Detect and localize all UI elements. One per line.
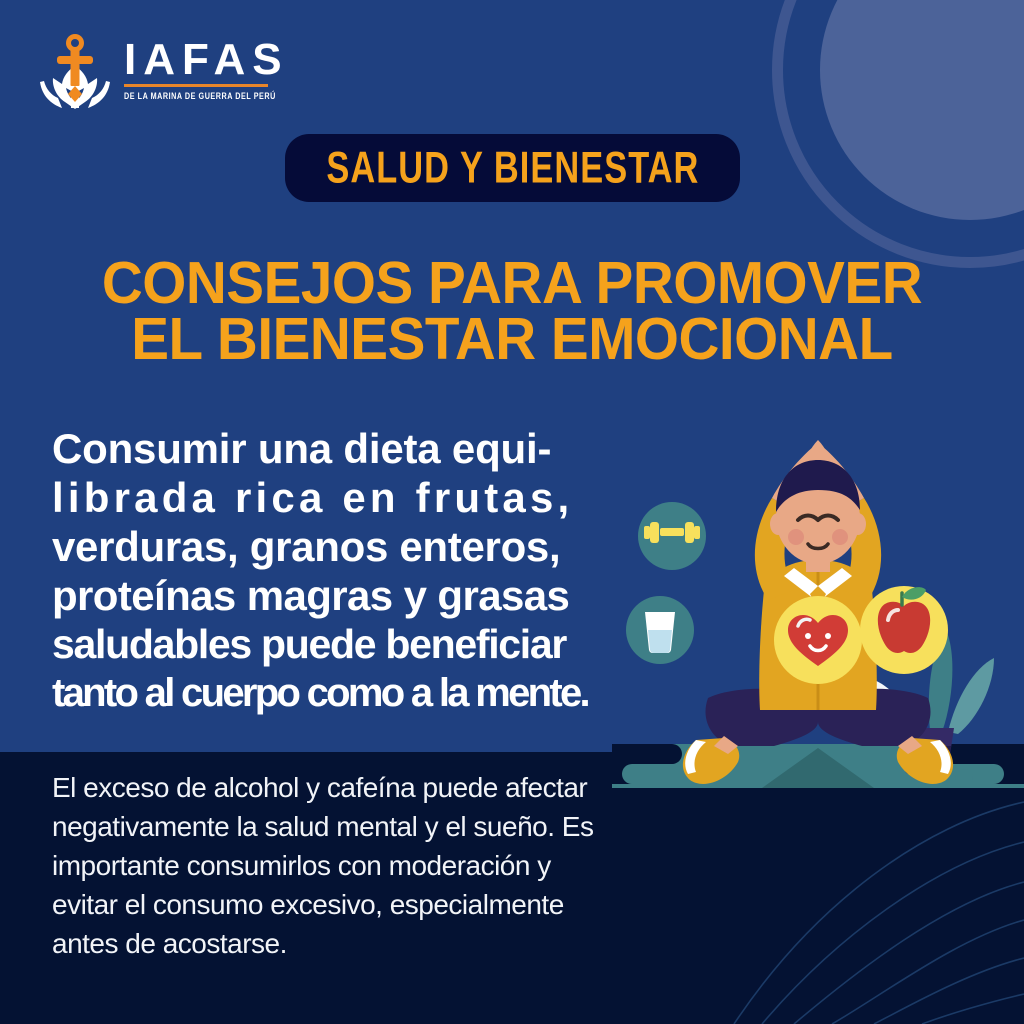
floor-mat bbox=[612, 744, 1024, 788]
wellness-illustration bbox=[612, 440, 1024, 840]
category-badge: SALUD Y BIENESTAR bbox=[285, 134, 740, 202]
note-paragraph: El exceso de alcohol y cafeína puede afe… bbox=[52, 768, 597, 963]
note-line: antes de acostarse. bbox=[52, 924, 597, 963]
title-line-1: CONSEJOS PARA PROMOVER bbox=[20, 258, 1003, 308]
heart-icon bbox=[774, 596, 862, 684]
water-glass-icon bbox=[626, 596, 694, 664]
brand-wordmark: IAFAS DE LA MARINA DE GUERRA DEL PERÚ bbox=[124, 38, 289, 99]
lead-line: librada rica en frutas, bbox=[52, 473, 597, 522]
category-badge-label: SALUD Y BIENESTAR bbox=[326, 143, 699, 193]
apple-icon bbox=[860, 586, 948, 674]
lead-line: saludables puede beneficiar bbox=[52, 620, 597, 669]
note-line: El exceso de alcohol y cafeína puede afe… bbox=[52, 768, 597, 807]
brand-rule bbox=[124, 84, 268, 87]
brand-subtitle: DE LA MARINA DE GUERRA DEL PERÚ bbox=[124, 90, 289, 101]
lead-line: verduras, granos enteros, bbox=[52, 522, 597, 571]
note-line: negativamente la salud mental y el sueño… bbox=[52, 807, 597, 846]
lead-line: tanto al cuerpo como a la mente. bbox=[52, 669, 597, 718]
infographic-poster: IAFAS DE LA MARINA DE GUERRA DEL PERÚ SA… bbox=[0, 0, 1024, 1024]
anchor-icon bbox=[38, 30, 112, 110]
page-title: CONSEJOS PARA PROMOVER EL BIENESTAR EMOC… bbox=[0, 258, 1024, 364]
brand-logo: IAFAS DE LA MARINA DE GUERRA DEL PERÚ bbox=[38, 30, 268, 110]
lead-line: Consumir una dieta equi- bbox=[52, 424, 597, 473]
brand-name: IAFAS bbox=[124, 38, 289, 82]
note-line: importante consumirlos con moderación y bbox=[52, 846, 597, 885]
lead-paragraph: Consumir una dieta equi- librada rica en… bbox=[52, 424, 597, 718]
title-line-2: EL BIENESTAR EMOCIONAL bbox=[20, 314, 1003, 364]
note-line: evitar el consumo excesivo, especialment… bbox=[52, 885, 597, 924]
dumbbell-icon bbox=[638, 502, 706, 570]
decorative-circle-ring bbox=[772, 0, 1024, 268]
lead-line: proteínas magras y grasas bbox=[52, 571, 597, 620]
